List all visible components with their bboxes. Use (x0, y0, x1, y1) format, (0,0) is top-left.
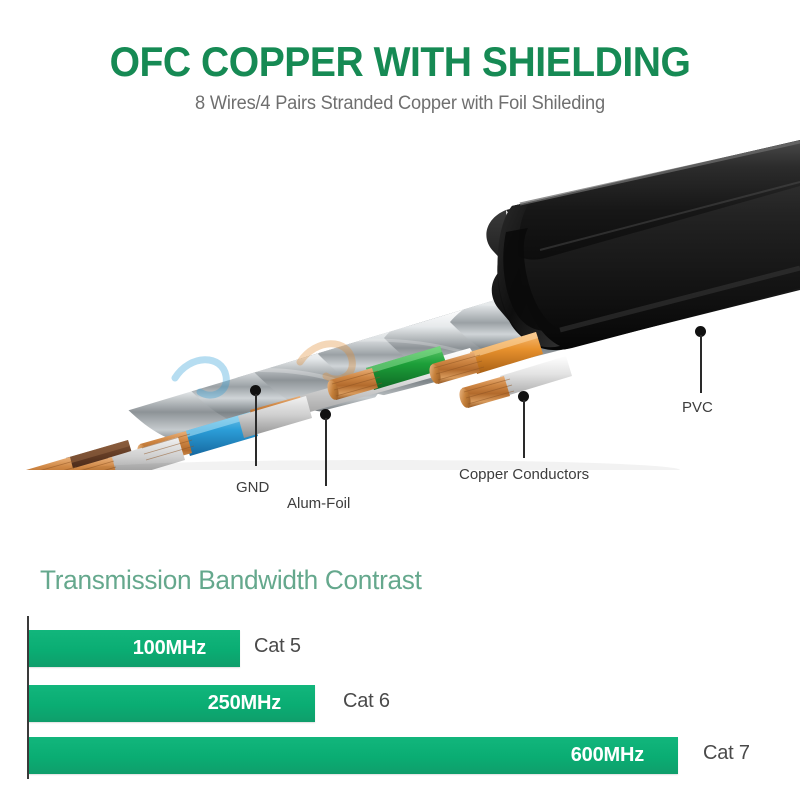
bar-category-cat7: Cat 7 (703, 742, 750, 765)
cable-cutaway-illustration (0, 140, 800, 470)
bar-category-cat5: Cat 5 (254, 635, 301, 658)
bar-row-cat5: 100MHz Cat 5 (29, 630, 449, 667)
callout-label-alum-foil: Alum-Foil (287, 495, 350, 512)
bar-row-cat6: 250MHz Cat 6 (29, 685, 509, 722)
callout-label-copper-conductors: Copper Conductors (459, 466, 589, 483)
bar-cat7: 600MHz (29, 737, 678, 774)
pvc-outer-jacket (486, 140, 800, 350)
callout-label-gnd: GND (236, 479, 269, 496)
bar-value-cat6: 250MHz (208, 692, 315, 715)
page-subtitle: 8 Wires/4 Pairs Stranded Copper with Foi… (16, 93, 784, 115)
bandwidth-bar-chart: 100MHz Cat 5 250MHz Cat 6 600MHz Cat 7 (0, 600, 800, 800)
bar-cat6: 250MHz (29, 685, 315, 722)
bar-value-cat5: 100MHz (133, 637, 240, 660)
bar-value-cat7: 600MHz (571, 744, 678, 767)
page-title: OFC COPPER WITH SHIELDING (28, 40, 772, 84)
callout-leader-alum-foil (325, 418, 327, 486)
callout-label-pvc: PVC (682, 399, 713, 416)
individual-wires (21, 332, 572, 470)
chart-title: Transmission Bandwidth Contrast (40, 565, 422, 596)
header-block: OFC COPPER WITH SHIELDING 8 Wires/4 Pair… (0, 40, 800, 115)
bar-row-cat7: 600MHz Cat 7 (29, 737, 789, 774)
callout-leader-pvc (700, 335, 702, 393)
bar-category-cat6: Cat 6 (343, 690, 390, 713)
callout-leader-gnd (255, 394, 257, 466)
bar-cat5: 100MHz (29, 630, 240, 667)
callout-leader-copper-conductors (523, 400, 525, 458)
